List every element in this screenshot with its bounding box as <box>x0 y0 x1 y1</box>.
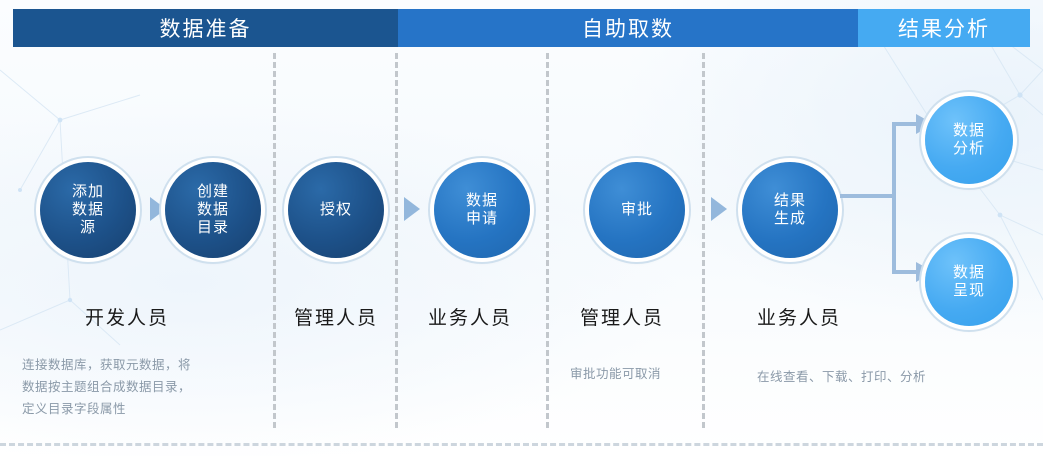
flow-node-label-create-catalog: 创建 数据 目录 <box>197 183 229 236</box>
description-approval: 审批功能可取消 <box>570 364 661 386</box>
arrow-icon-3 <box>711 197 727 221</box>
flow-diagram-canvas: 数据准备 自助取数 结果分析 添加 数据 源 创建 数据 目录 授权 数据 申请… <box>0 0 1043 456</box>
arrow-icon-1 <box>150 197 166 221</box>
role-label-developer: 开发人员 <box>85 303 169 330</box>
bottom-divider <box>0 443 1043 446</box>
flow-node-data-analysis[interactable]: 数据 分析 <box>925 96 1013 184</box>
phase-label-result-analysis: 结果分析 <box>898 13 990 43</box>
description-result: 在线查看、下载、打印、分析 <box>757 367 926 389</box>
role-label-business-2: 业务人员 <box>757 303 841 330</box>
role-label-admin-2: 管理人员 <box>580 303 664 330</box>
phase-bar-data-preparation[interactable]: 数据准备 <box>13 9 398 47</box>
flow-node-authorize[interactable]: 授权 <box>288 162 384 258</box>
flow-node-label-data-request: 数据 申请 <box>466 192 498 227</box>
column-divider-4 <box>702 53 705 428</box>
description-line-2: 数据按主题组合成数据目录， <box>22 377 272 399</box>
phase-label-self-service-query: 自助取数 <box>582 13 674 43</box>
flow-node-label-approval: 审批 <box>621 201 653 219</box>
flow-node-label-authorize: 授权 <box>320 201 352 219</box>
flow-node-approval[interactable]: 审批 <box>589 162 685 258</box>
flow-node-label-data-present: 数据 呈现 <box>953 264 985 299</box>
role-label-admin-1: 管理人员 <box>294 303 378 330</box>
flow-node-label-data-analysis: 数据 分析 <box>953 122 985 157</box>
role-label-business-1: 业务人员 <box>428 303 512 330</box>
flow-node-label-result-generate: 结果 生成 <box>774 192 806 227</box>
column-divider-1 <box>273 53 276 428</box>
column-divider-3 <box>546 53 549 428</box>
flow-node-data-request[interactable]: 数据 申请 <box>434 162 530 258</box>
phase-bar-self-service-query[interactable]: 自助取数 <box>398 9 858 47</box>
flow-node-label-add-datasource: 添加 数据 源 <box>72 183 104 236</box>
flow-node-result-generate[interactable]: 结果 生成 <box>742 162 838 258</box>
description-data-preparation: 连接数据库，获取元数据，将 数据按主题组合成数据目录， 定义目录字段属性 <box>22 355 272 421</box>
flow-node-add-datasource[interactable]: 添加 数据 源 <box>40 162 136 258</box>
description-line-3: 定义目录字段属性 <box>22 399 272 421</box>
column-divider-2 <box>395 53 398 428</box>
phase-bar-result-analysis[interactable]: 结果分析 <box>858 9 1030 47</box>
phase-label-data-preparation: 数据准备 <box>160 13 252 43</box>
arrow-icon-2 <box>404 197 420 221</box>
flow-node-data-present[interactable]: 数据 呈现 <box>925 238 1013 326</box>
flow-node-create-catalog[interactable]: 创建 数据 目录 <box>165 162 261 258</box>
description-line-1: 连接数据库，获取元数据，将 <box>22 355 272 377</box>
